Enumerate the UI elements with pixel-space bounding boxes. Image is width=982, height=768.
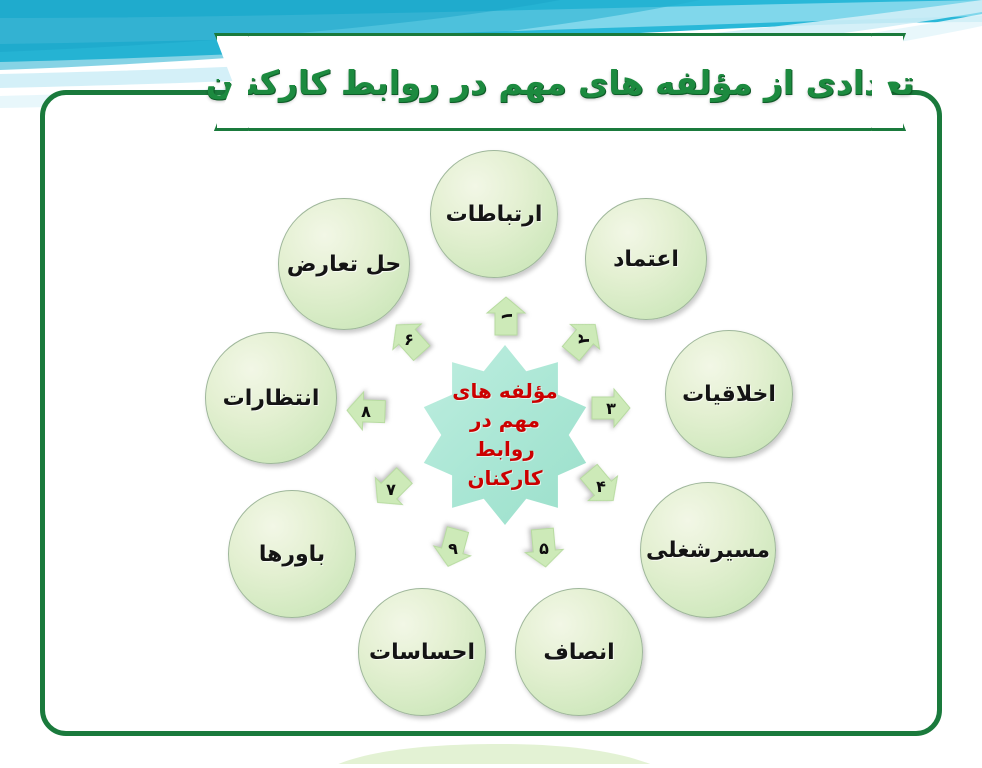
node-etemad[interactable]: اعتماد <box>585 198 707 320</box>
node-ensaf[interactable]: انصاف <box>515 588 643 716</box>
node-hal-taarоz[interactable]: حل تعارض <box>278 198 410 330</box>
arrow-number: ۷ <box>370 468 412 510</box>
center-star: مؤلفه های مهم در روابط کارکنان <box>415 345 595 525</box>
arrow-marker-7: ۷ <box>361 459 420 518</box>
center-line-2: مهم در روابط <box>445 406 565 464</box>
arrow-marker-9: ۹ <box>427 522 478 573</box>
arrow-number: ۲ <box>562 318 604 360</box>
node-label: اعتماد <box>613 247 679 272</box>
arrow-number: ۴ <box>580 465 622 507</box>
components-diagram: ارتباطات اعتماد اخلاقیات مسیرشغلی انصاف … <box>40 90 942 736</box>
center-line-3: کارکنان <box>445 464 565 493</box>
arrow-marker-5: ۵ <box>521 525 567 571</box>
node-label: انصاف <box>543 640 614 665</box>
arrow-marker-8: ۸ <box>344 389 387 432</box>
node-ertebatat[interactable]: ارتباطات <box>430 150 558 278</box>
arrow-marker-3: ۳ <box>590 387 632 429</box>
arrow-number: ۹ <box>432 527 474 569</box>
center-star-label: مؤلفه های مهم در روابط کارکنان <box>445 377 565 493</box>
node-label: ارتباطات <box>446 202 543 227</box>
arrow-number: ۸ <box>345 390 387 432</box>
page-title: تعدادی از مؤلفه های مهم در روابط کارکنان <box>198 63 922 102</box>
node-label: احساسات <box>369 640 475 665</box>
arrow-number: ۳ <box>590 387 632 429</box>
arrow-number: ۶ <box>388 318 430 360</box>
arrow-number: ۵ <box>523 527 565 569</box>
node-label: باورها <box>259 542 325 567</box>
title-banner: تعدادی از مؤلفه های مهم در روابط کارکنان <box>245 33 875 131</box>
node-label: انتظارات <box>223 386 320 411</box>
center-line-1: مؤلفه های <box>445 377 565 406</box>
node-bavarha[interactable]: باورها <box>228 490 356 618</box>
arrow-number: ۱ <box>485 295 527 337</box>
arrow-marker-4: ۴ <box>571 456 630 515</box>
node-ehsasat[interactable]: احساسات <box>358 588 486 716</box>
node-label: اخلاقیات <box>682 382 776 407</box>
node-label: حل تعارض <box>287 252 401 277</box>
node-akhlaghiat[interactable]: اخلاقیات <box>665 330 793 458</box>
arrow-marker-1: ۱ <box>485 295 527 337</box>
node-masir-shoghli[interactable]: مسیرشغلی <box>640 482 776 618</box>
node-entezarat[interactable]: انتظارات <box>205 332 337 464</box>
node-label: مسیرشغلی <box>646 538 770 563</box>
slide-canvas: تعدادی از مؤلفه های مهم در روابط کارکنان… <box>0 0 982 768</box>
arrow-marker-6: ۶ <box>379 309 438 368</box>
arrow-marker-2: ۲ <box>553 309 612 368</box>
